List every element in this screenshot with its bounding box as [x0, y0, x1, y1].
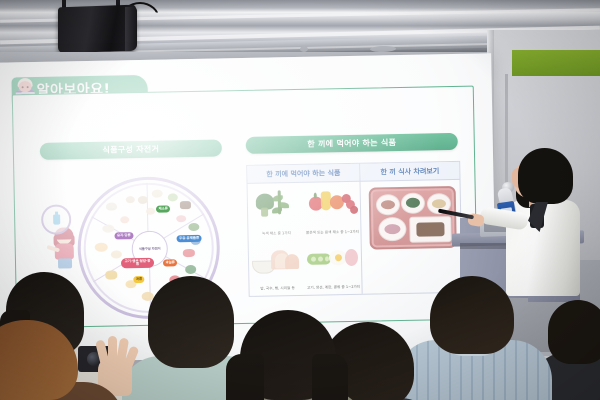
wall-accent-band: [512, 50, 600, 76]
tray-dish: [409, 216, 451, 243]
table-header-meal-tray: 한 끼 식사 차려보기: [360, 162, 459, 182]
slide-body-card: 식품구성 자전거 한 끼에 먹어야 하는 식품: [12, 86, 478, 329]
tray-dish: [376, 194, 400, 215]
table-header-foods: 한 끼에 먹어야 하는 식품: [247, 164, 359, 184]
table-cell: 고기, 생선, 계란, 콩류 중 1~2가지: [305, 237, 362, 293]
cell-caption: 고기, 생선, 계란, 콩류 중 1~2가지: [307, 285, 360, 291]
per-meal-table: 한 끼에 먹어야 하는 식품: [246, 161, 462, 297]
ceiling-speaker-icon: [58, 5, 136, 54]
wheel-segment-label: 고기·생선·달걀·콩류: [121, 258, 154, 269]
table-column-meal-tray: 한 끼 식사 차려보기: [360, 162, 461, 294]
section-pill-food-wheel: 식품구성 자전거: [40, 139, 222, 159]
meat-fish-egg-bean-icon: [305, 241, 362, 276]
section-pill-per-meal: 한 끼에 먹어야 하는 식품: [246, 133, 458, 154]
water-bottle-icon: [53, 215, 60, 225]
presenter: [498, 148, 584, 298]
cell-caption: 밥, 국수, 빵, 시리얼 등: [260, 286, 295, 291]
screenshot-root: 알아보아요! 식품구성 자전거 한 끼에 먹어야 하는 식품: [0, 0, 600, 400]
table-column-foods: 한 끼에 먹어야 하는 식품: [247, 164, 362, 296]
tray-dish: [378, 217, 406, 242]
wheel-segment-label: 과일류: [163, 259, 177, 266]
cell-caption: 붉은색 또는 흰색 채소 중 1~2가지: [306, 230, 359, 236]
wheel-hub-label: 식품구성 자전거: [139, 247, 161, 251]
green-vegetables-icon: [248, 187, 305, 222]
meal-tray-icon: [369, 186, 457, 250]
table-cell: 녹색 채소 중 1가지: [248, 183, 305, 239]
rice-noodles-bread-icon: [249, 242, 306, 277]
wheel-segment-label: 채소류: [156, 205, 170, 212]
colored-vegetables-icon: [304, 186, 361, 221]
wheel-segment-label: 유지·당류: [114, 232, 133, 239]
table-cell: 붉은색 또는 흰색 채소 중 1~2가지: [304, 182, 361, 238]
wheel-segment-label: 우유·유제품류: [177, 235, 202, 242]
presenter-hair: [518, 148, 573, 204]
wheel-segment-label: 곡류: [133, 276, 144, 283]
cell-caption: 녹색 채소 중 1가지: [262, 231, 291, 236]
tray-dish: [401, 193, 425, 214]
table-cell: 밥, 국수, 빵, 시리얼 등: [249, 238, 306, 294]
